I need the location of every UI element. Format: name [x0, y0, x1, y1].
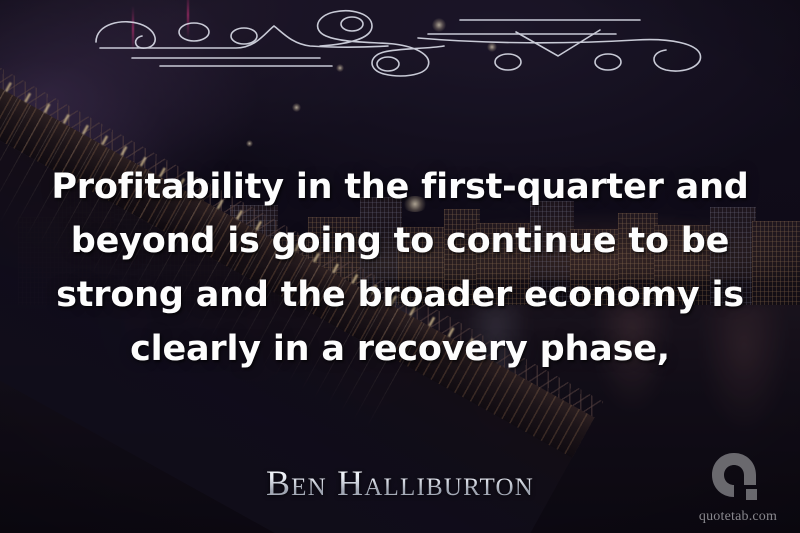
- quote-author: Ben Halliburton: [0, 462, 800, 504]
- quote-text: Profitability in the first-quarter and b…: [48, 160, 752, 376]
- brand-site-label: quotetab.com: [690, 509, 786, 525]
- brand-watermark[interactable]: quotetab.com: [690, 451, 786, 525]
- decorative-flourish-divider: [88, 4, 712, 78]
- quote-image-canvas: Profitability in the first-quarter and b…: [0, 0, 800, 533]
- quotetab-logo-icon: [710, 451, 766, 507]
